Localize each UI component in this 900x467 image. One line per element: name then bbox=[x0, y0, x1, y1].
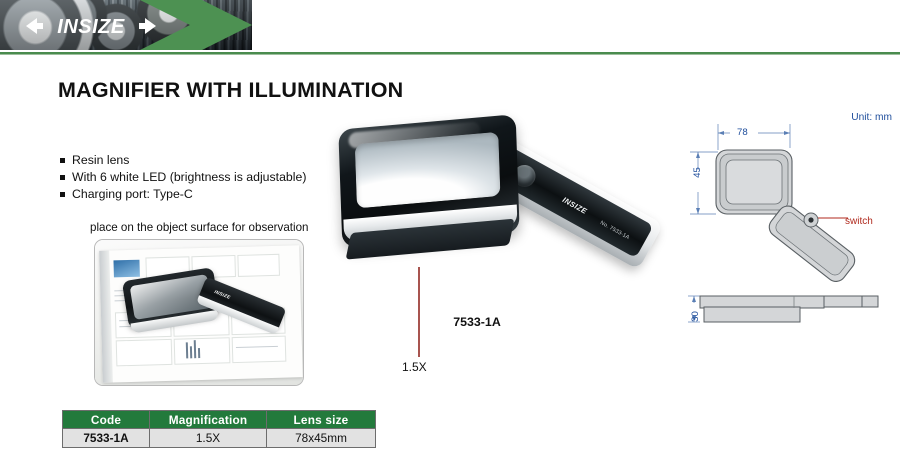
cell-magnification: 1.5X bbox=[150, 429, 267, 448]
header-green-rule-thin bbox=[0, 54, 900, 55]
catalog-page: INSIZE MAGNIFIER WITH ILLUMINATION Resin… bbox=[0, 0, 900, 467]
photo-thumbnail bbox=[113, 260, 139, 278]
feature-text: Charging port: Type-C bbox=[72, 186, 193, 203]
page-title: MAGNIFIER WITH ILLUMINATION bbox=[58, 78, 403, 103]
top-view-lens bbox=[726, 160, 782, 204]
drawing-svg bbox=[672, 108, 900, 354]
switch-button-dot bbox=[808, 217, 813, 222]
photo-cell bbox=[237, 254, 280, 277]
feature-list: Resin lens With 6 white LED (brightness … bbox=[60, 152, 360, 203]
magnification-callout: 1.5X bbox=[402, 360, 427, 374]
callout-leader-line bbox=[418, 267, 420, 357]
square-bullet-icon bbox=[60, 158, 65, 163]
column-header-lens-size: Lens size bbox=[267, 411, 376, 429]
column-header-code: Code bbox=[63, 411, 150, 429]
product-model-label: 7533-1A bbox=[332, 315, 622, 329]
photo-cell bbox=[116, 339, 173, 367]
green-chevron-icon bbox=[140, 0, 255, 50]
technical-drawing: Unit: mm bbox=[672, 108, 900, 354]
square-bullet-icon bbox=[60, 175, 65, 180]
side-view-handle-end bbox=[862, 296, 878, 307]
photo-cell bbox=[232, 336, 287, 363]
product-photo: INSIZE No. 7533-1A 1.5X bbox=[332, 112, 668, 302]
square-bullet-icon bbox=[60, 192, 65, 197]
dimension-width-label: 78 bbox=[737, 127, 748, 138]
side-view-body bbox=[704, 307, 800, 322]
chart-bar bbox=[198, 348, 200, 358]
lens-glass bbox=[355, 132, 501, 209]
inset-photo-caption: place on the object surface for observat… bbox=[90, 221, 308, 234]
list-item: With 6 white LED (brightness is adjustab… bbox=[60, 169, 360, 186]
photo-cell bbox=[174, 337, 231, 365]
column-header-magnification: Magnification bbox=[150, 411, 267, 429]
inset-usage-photo: INSIZE bbox=[94, 239, 304, 386]
insize-logo: INSIZE bbox=[26, 13, 156, 39]
page-header: INSIZE bbox=[0, 0, 900, 55]
unit-label: Unit: mm bbox=[851, 112, 892, 123]
svg-text:INSIZE: INSIZE bbox=[57, 16, 125, 38]
dimension-height-label: 45 bbox=[692, 167, 703, 178]
chart-bar bbox=[186, 342, 188, 358]
side-view-top-plate bbox=[700, 296, 824, 308]
dimension-thickness-label: 30 bbox=[690, 311, 701, 322]
feature-text: Resin lens bbox=[72, 152, 129, 169]
spec-table: Code Magnification Lens size 7533-1A 1.5… bbox=[62, 410, 376, 448]
list-item: Charging port: Type-C bbox=[60, 186, 360, 203]
switch-label: switch bbox=[845, 216, 873, 227]
side-view-handle bbox=[824, 296, 862, 307]
feature-text: With 6 white LED (brightness is adjustab… bbox=[72, 169, 306, 186]
table-row: 7533-1A 1.5X 78x45mm bbox=[63, 429, 376, 448]
cell-code: 7533-1A bbox=[63, 429, 150, 448]
product-lens-head bbox=[338, 114, 519, 248]
chart-bar bbox=[190, 346, 192, 358]
cell-lens-size: 78x45mm bbox=[267, 429, 376, 448]
list-item: Resin lens bbox=[60, 152, 360, 169]
table-header-row: Code Magnification Lens size bbox=[63, 411, 376, 429]
